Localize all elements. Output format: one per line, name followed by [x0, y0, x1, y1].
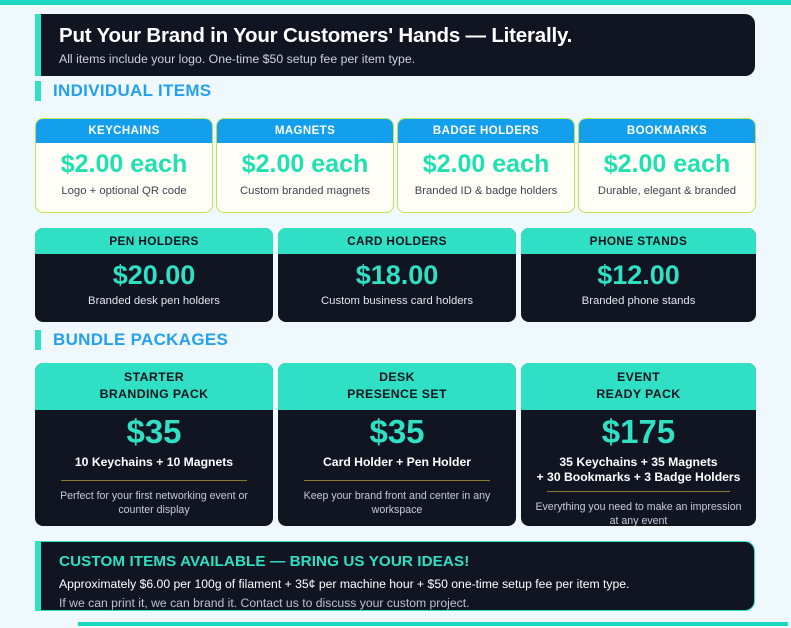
- bundle-card-contents: 10 Keychains + 10 Magnets: [35, 455, 273, 470]
- bundle-card-note: Perfect for your first networking event …: [35, 489, 273, 517]
- bundle-title-line2: BRANDING PACK: [39, 386, 269, 403]
- top-accent-rule: [0, 0, 791, 5]
- bundle-card-divider: [61, 480, 247, 481]
- item-card-desc: Logo + optional QR code: [36, 183, 212, 199]
- item-card-keychains[interactable]: KEYCHAINS $2.00 each Logo + optional QR …: [35, 118, 213, 213]
- item-card-title: CARD HOLDERS: [278, 228, 516, 254]
- item-card-badge-holders[interactable]: BADGE HOLDERS $2.00 each Branded ID & ba…: [397, 118, 575, 213]
- bundle-card-price: $35: [35, 412, 273, 452]
- item-card-price: $2.00 each: [217, 147, 393, 181]
- bundle-title-line1: EVENT: [525, 369, 752, 386]
- bundle-title-line2: PRESENCE SET: [282, 386, 512, 403]
- item-card-desc: Branded desk pen holders: [35, 293, 273, 309]
- bundle-card-contents: 35 Keychains + 35 Magnets + 30 Bookmarks…: [521, 455, 756, 485]
- bundle-card-note: Keep your brand front and center in any …: [278, 489, 516, 517]
- hero-banner: Put Your Brand in Your Customers' Hands …: [35, 14, 755, 76]
- item-card-price: $2.00 each: [579, 147, 755, 181]
- item-card-price: $2.00 each: [36, 147, 212, 181]
- item-card-magnets[interactable]: MAGNETS $2.00 each Custom branded magnet…: [216, 118, 394, 213]
- bundle-card-price: $35: [278, 412, 516, 452]
- item-card-price: $12.00: [521, 257, 756, 293]
- custom-items-banner: CUSTOM ITEMS AVAILABLE — BRING US YOUR I…: [35, 541, 755, 611]
- item-card-desc: Branded phone stands: [521, 293, 756, 309]
- item-card-bookmarks[interactable]: BOOKMARKS $2.00 each Durable, elegant & …: [578, 118, 756, 213]
- bundle-card-title: STARTER BRANDING PACK: [35, 363, 273, 410]
- item-card-desc: Custom branded magnets: [217, 183, 393, 199]
- item-card-card-holders[interactable]: CARD HOLDERS $18.00 Custom business card…: [278, 228, 516, 322]
- item-card-title: PEN HOLDERS: [35, 228, 273, 254]
- item-card-desc: Branded ID & badge holders: [398, 183, 574, 199]
- hero-title: Put Your Brand in Your Customers' Hands …: [59, 23, 755, 49]
- custom-items-title: CUSTOM ITEMS AVAILABLE — BRING US YOUR I…: [59, 551, 754, 572]
- item-card-price: $18.00: [278, 257, 516, 293]
- bundle-card-title: EVENT READY PACK: [521, 363, 756, 410]
- item-card-desc: Custom business card holders: [278, 293, 516, 309]
- bundle-card-title: DESK PRESENCE SET: [278, 363, 516, 410]
- section-accent-bar: [35, 330, 41, 350]
- hero-panel: Put Your Brand in Your Customers' Hands …: [41, 14, 755, 76]
- section-label: INDIVIDUAL ITEMS: [53, 80, 211, 102]
- bundle-card-event-ready-pack[interactable]: EVENT READY PACK $175 35 Keychains + 35 …: [521, 363, 756, 526]
- item-card-title: BADGE HOLDERS: [398, 119, 574, 143]
- bundle-card-starter-branding-pack[interactable]: STARTER BRANDING PACK $35 10 Keychains +…: [35, 363, 273, 526]
- item-card-phone-stands[interactable]: PHONE STANDS $12.00 Branded phone stands: [521, 228, 756, 322]
- section-accent-bar: [35, 81, 41, 101]
- section-label: BUNDLE PACKAGES: [53, 329, 228, 351]
- item-card-title: BOOKMARKS: [579, 119, 755, 143]
- bundle-title-line2: READY PACK: [525, 386, 752, 403]
- bundle-card-divider: [547, 491, 730, 492]
- item-card-title: PHONE STANDS: [521, 228, 756, 254]
- item-card-desc: Durable, elegant & branded: [579, 183, 755, 199]
- bundle-title-line1: DESK: [282, 369, 512, 386]
- bundle-contents-line2: + 30 Bookmarks + 3 Badge Holders: [527, 470, 750, 485]
- bundle-card-contents: Card Holder + Pen Holder: [278, 455, 516, 470]
- bundle-card-desk-presence-set[interactable]: DESK PRESENCE SET $35 Card Holder + Pen …: [278, 363, 516, 526]
- item-card-price: $2.00 each: [398, 147, 574, 181]
- bundle-title-line1: STARTER: [39, 369, 269, 386]
- bundle-card-note: Everything you need to make an impressio…: [521, 500, 756, 526]
- custom-items-pricing: Approximately $6.00 per 100g of filament…: [59, 575, 754, 594]
- bundle-contents-line1: 35 Keychains + 35 Magnets: [527, 455, 750, 470]
- bundle-card-price: $175: [521, 412, 756, 452]
- custom-panel: CUSTOM ITEMS AVAILABLE — BRING US YOUR I…: [41, 541, 755, 611]
- item-card-title: KEYCHAINS: [36, 119, 212, 143]
- bundle-card-divider: [304, 480, 490, 481]
- item-card-pen-holders[interactable]: PEN HOLDERS $20.00 Branded desk pen hold…: [35, 228, 273, 322]
- item-card-price: $20.00: [35, 257, 273, 293]
- item-card-title: MAGNETS: [217, 119, 393, 143]
- bottom-accent-rule: [78, 622, 788, 626]
- custom-items-contact: If we can print it, we can brand it. Con…: [59, 594, 754, 613]
- hero-subtitle: All items include your logo. One-time $5…: [59, 50, 755, 68]
